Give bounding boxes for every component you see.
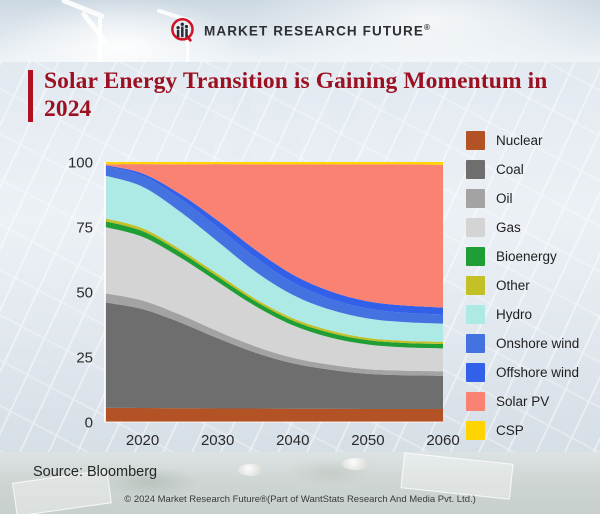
coin-graphic [342, 458, 370, 470]
x-axis-tick-label: 2030 [201, 432, 234, 449]
legend-color-swatch [466, 189, 485, 208]
stacked-area-chart: 0255075100 20202030204020502060 [0, 140, 460, 452]
legend-color-swatch [466, 392, 485, 411]
title-accent-bar [28, 70, 33, 122]
legend-item-label: Offshore wind [496, 365, 579, 380]
legend-item-label: Bioenergy [496, 249, 557, 264]
legend-item-label: Solar PV [496, 394, 549, 409]
title-block: Solar Energy Transition is Gaining Momen… [28, 68, 573, 123]
brand-name-text: MARKET RESEARCH FUTURE [204, 24, 424, 39]
legend-item[interactable]: Onshore wind [466, 329, 598, 358]
legend-item-label: CSP [496, 423, 524, 438]
area-series-nuclear [105, 408, 443, 422]
legend-item[interactable]: Gas [466, 213, 598, 242]
source-note: Source: Bloomberg [33, 464, 157, 480]
y-axis-tick-label: 0 [85, 415, 93, 432]
legend-item-label: Hydro [496, 307, 532, 322]
legend-color-swatch [466, 160, 485, 179]
legend-color-swatch [466, 421, 485, 440]
coin-graphic [238, 464, 264, 476]
registered-trademark-icon: ® [424, 23, 431, 32]
chart-series-group [105, 162, 443, 422]
legend-item-label: Coal [496, 162, 524, 177]
y-axis-tick-labels: 0255075100 [68, 155, 93, 432]
legend-item[interactable]: Coal [466, 155, 598, 184]
legend-color-swatch [466, 363, 485, 382]
banknote-graphic [400, 452, 513, 499]
legend-item[interactable]: CSP [466, 416, 598, 445]
legend-item[interactable]: Bioenergy [466, 242, 598, 271]
legend-color-swatch [466, 247, 485, 266]
chart-canvas: 0255075100 20202030204020502060 [0, 140, 460, 452]
legend-color-swatch [466, 131, 485, 150]
y-axis-tick-label: 100 [68, 155, 93, 172]
legend-color-swatch [466, 276, 485, 295]
legend-item[interactable]: Other [466, 271, 598, 300]
legend-item[interactable]: Hydro [466, 300, 598, 329]
infographic-page: MARKET RESEARCH FUTURE® Solar Energy Tra… [0, 0, 600, 514]
market-research-future-logo-icon [169, 17, 197, 45]
x-axis-tick-labels: 20202030204020502060 [126, 432, 460, 449]
legend-item[interactable]: Offshore wind [466, 358, 598, 387]
copyright-note: © 2024 Market Research Future®(Part of W… [0, 494, 600, 505]
x-axis-tick-label: 2060 [426, 432, 459, 449]
y-axis-tick-label: 25 [76, 350, 93, 367]
brand-header: MARKET RESEARCH FUTURE® [0, 0, 600, 62]
legend-item-label: Oil [496, 191, 513, 206]
legend-color-swatch [466, 305, 485, 324]
x-axis-tick-label: 2050 [351, 432, 384, 449]
page-title: Solar Energy Transition is Gaining Momen… [44, 68, 573, 123]
chart-legend: NuclearCoalOilGasBioenergyOtherHydroOnsh… [466, 126, 598, 445]
legend-item-label: Other [496, 278, 530, 293]
y-axis-tick-label: 75 [76, 220, 93, 237]
legend-item-label: Nuclear [496, 133, 543, 148]
y-axis-tick-label: 50 [76, 285, 93, 302]
legend-item[interactable]: Nuclear [466, 126, 598, 155]
x-axis-tick-label: 2020 [126, 432, 159, 449]
brand-name: MARKET RESEARCH FUTURE® [204, 23, 431, 39]
legend-item[interactable]: Oil [466, 184, 598, 213]
x-axis-tick-label: 2040 [276, 432, 309, 449]
legend-color-swatch [466, 334, 485, 353]
legend-item-label: Gas [496, 220, 521, 235]
legend-item-label: Onshore wind [496, 336, 579, 351]
legend-item[interactable]: Solar PV [466, 387, 598, 416]
legend-color-swatch [466, 218, 485, 237]
